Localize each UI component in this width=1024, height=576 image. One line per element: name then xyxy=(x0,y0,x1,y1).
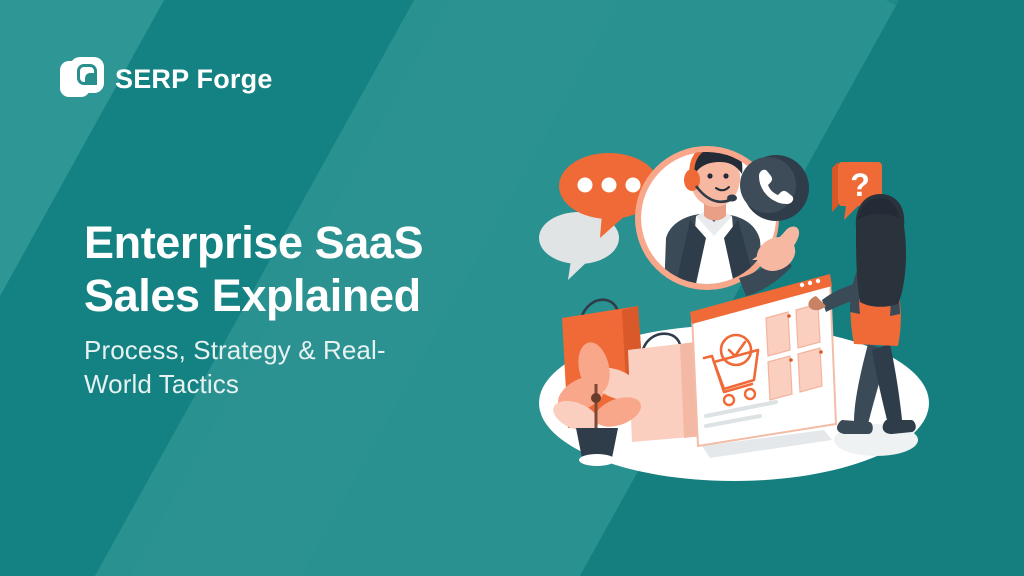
title-line-1: Enterprise SaaS xyxy=(84,217,423,268)
brand-logo[interactable]: SERP Forge xyxy=(60,57,273,101)
customer-support-ecommerce-illustration: ? xyxy=(524,128,1024,498)
svg-text:?: ? xyxy=(850,167,870,203)
blog-banner: SERP Forge Enterprise SaaS Sales Explain… xyxy=(0,0,1024,576)
page-title: Enterprise SaaS Sales Explained xyxy=(84,216,524,322)
overlapping-squares-icon xyxy=(60,57,104,101)
title-line-2: Sales Explained xyxy=(84,269,524,322)
page-subtitle: Process, Strategy & Real- World Tactics xyxy=(84,334,524,402)
headline-block: Enterprise SaaS Sales Explained Process,… xyxy=(84,216,524,402)
subtitle-line-2: World Tactics xyxy=(84,368,524,402)
subtitle-line-1: Process, Strategy & Real- xyxy=(84,335,386,365)
brand-name: SERP Forge xyxy=(115,64,273,95)
